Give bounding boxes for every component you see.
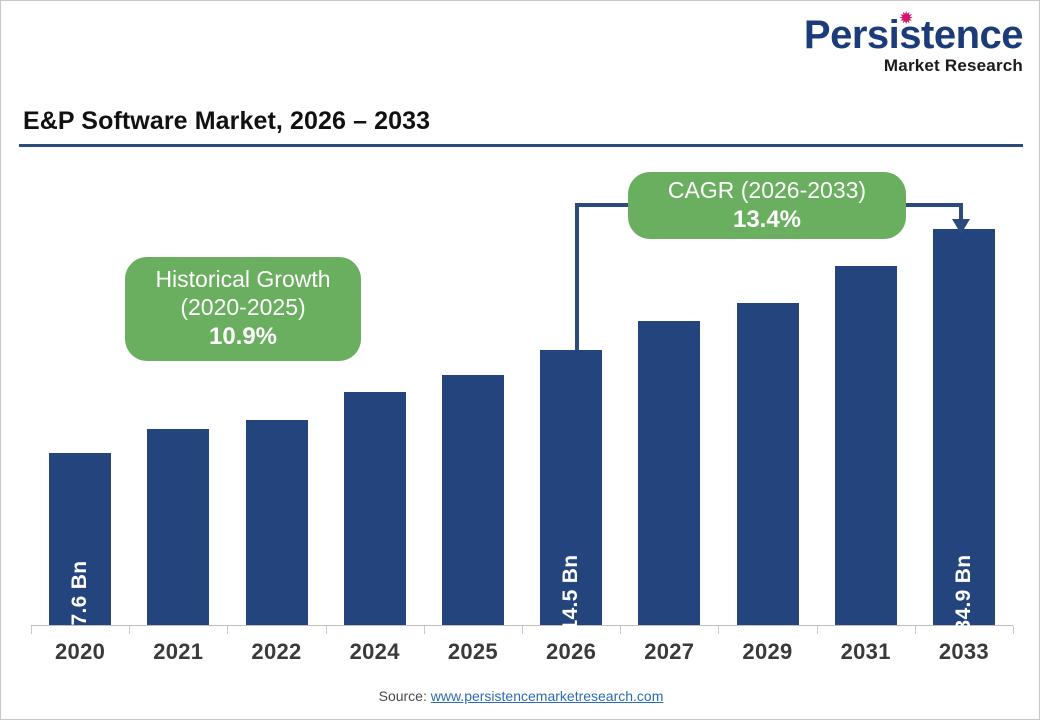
x-axis-tick	[326, 626, 327, 634]
x-axis-tick	[522, 626, 523, 634]
bar	[835, 266, 897, 625]
bar	[737, 303, 799, 625]
x-axis-tick	[1013, 626, 1014, 634]
x-axis-tick	[424, 626, 425, 634]
x-axis-tick	[129, 626, 130, 634]
x-axis-label: 2021	[129, 639, 227, 665]
bar: US$ 14.5 Bn	[540, 350, 602, 625]
bar	[147, 429, 209, 625]
source-label: Source:	[379, 688, 431, 704]
x-axis-label: 2027	[620, 639, 718, 665]
bar	[344, 392, 406, 625]
historical-growth-callout: Historical Growth (2020-2025) 10.9%	[125, 257, 361, 361]
source-link[interactable]: www.persistencemarketresearch.com	[431, 688, 664, 704]
bar: US$ 34.9 Bn	[933, 229, 995, 625]
x-axis-label: 2029	[718, 639, 816, 665]
historical-growth-line1: Historical Growth	[155, 266, 330, 293]
x-axis-label: 2020	[31, 639, 129, 665]
x-axis-label: 2024	[326, 639, 424, 665]
bar	[638, 321, 700, 625]
x-axis-label: 2022	[227, 639, 325, 665]
x-axis-label: 2033	[915, 639, 1013, 665]
bar	[246, 420, 308, 625]
cagr-callout: CAGR (2026-2033) 13.4%	[628, 172, 906, 239]
source-note: Source: www.persistencemarketresearch.co…	[1, 688, 1040, 704]
cagr-line1: CAGR (2026-2033)	[668, 177, 866, 204]
x-axis-label: 2031	[817, 639, 915, 665]
historical-growth-line2: (2020-2025)	[180, 294, 305, 321]
x-axis-tick	[620, 626, 621, 634]
cagr-value: 13.4%	[733, 206, 801, 235]
x-axis-label: 2026	[522, 639, 620, 665]
x-axis-tick	[915, 626, 916, 634]
x-axis-tick	[227, 626, 228, 634]
x-axis-tick	[718, 626, 719, 634]
chart-canvas: Persistence ✹ Market Research E&P Softwa…	[0, 0, 1040, 720]
bar: US$ 7.6 Bn	[49, 453, 111, 625]
bar	[442, 375, 504, 625]
x-axis-label: 2025	[424, 639, 522, 665]
x-axis-tick	[31, 626, 32, 634]
x-axis-tick	[817, 626, 818, 634]
historical-growth-value: 10.9%	[209, 323, 277, 352]
